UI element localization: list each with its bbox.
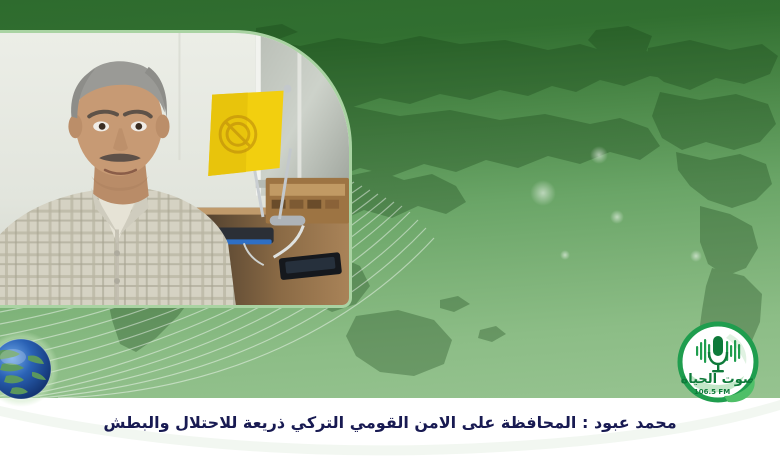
news-headline: محمد عبود : المحافظة على الامن القومي ال… [0, 412, 780, 434]
globe-graphic [0, 330, 60, 408]
interview-portrait [0, 30, 352, 308]
bokeh-dot [560, 250, 570, 260]
white-bottom-swoosh [0, 350, 780, 470]
news-graphic-card: صوت الحياة 106.5 FM محمد عبود : المحافظة… [0, 0, 780, 470]
bokeh-dot [610, 210, 624, 224]
portrait-image [0, 33, 349, 305]
svg-text:106.5 FM: 106.5 FM [694, 388, 730, 396]
bokeh-dot [590, 146, 608, 164]
svg-text:صوت الحياة: صوت الحياة [681, 372, 756, 387]
bokeh-dot [690, 250, 702, 262]
sawt-al-hayat-radio-logo[interactable]: صوت الحياة 106.5 FM [668, 312, 768, 412]
